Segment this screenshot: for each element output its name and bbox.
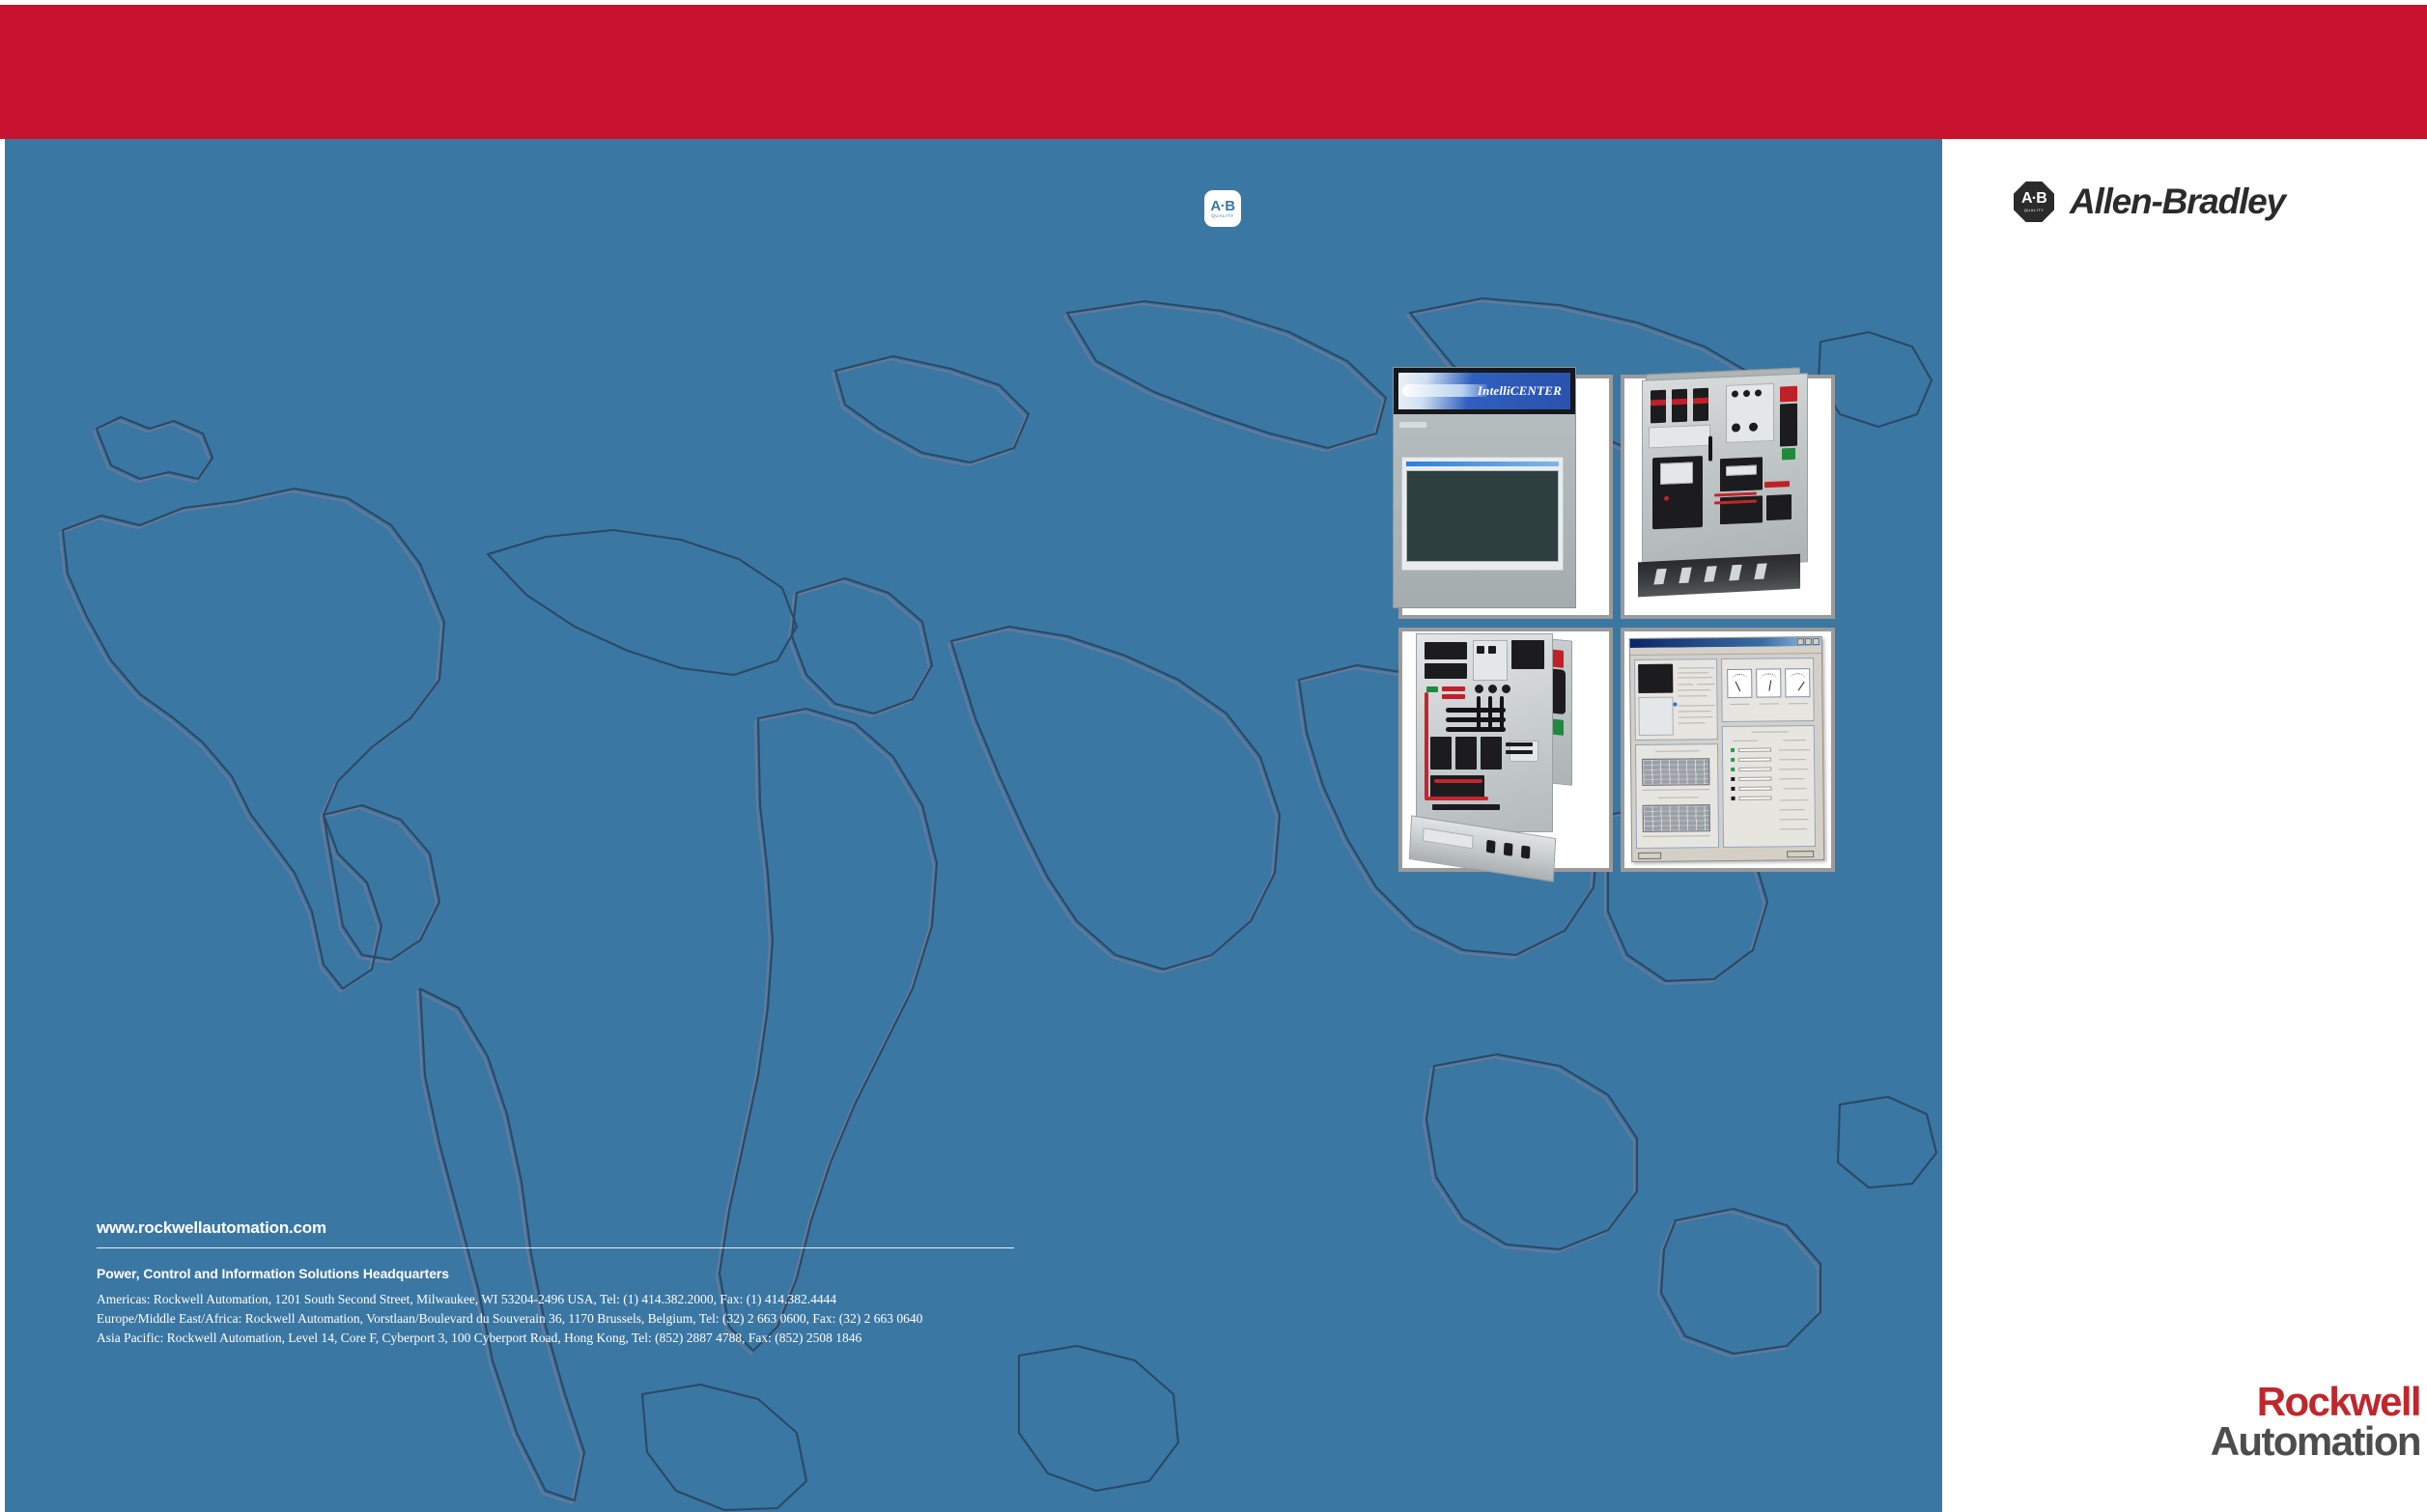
intellicenter-cabinet-graphic: IntelliCENTER [1393, 367, 1576, 608]
ab-mark-subtitle: QUALITY [2024, 209, 2045, 212]
allen-bradley-logo: A·B QUALITY Allen-Bradley [2014, 182, 2285, 222]
intellicenter-banner: IntelliCENTER [1398, 373, 1570, 409]
device-details-group [1634, 658, 1718, 741]
hmi-titlebar [1406, 462, 1559, 466]
footer-contact-block: www.rockwellautomation.com Power, Contro… [97, 1218, 1024, 1348]
product-image-grid: IntelliCENTER [1398, 375, 1843, 880]
ab-quality-badge: A·B QUALITY [1204, 190, 1241, 227]
allen-bradley-mark-icon: A·B QUALITY [2014, 182, 2054, 222]
product-image-intellicenter-cabinet: IntelliCENTER [1398, 375, 1613, 619]
motor-control-unit-graphic [1632, 369, 1821, 610]
software-action-button-right[interactable] [1787, 851, 1814, 857]
software-body [1630, 654, 1823, 862]
rockwell-automation-logo: Rockwell Automation [2113, 1383, 2420, 1462]
ab-badge-subtitle: QUALITY [1211, 214, 1233, 219]
mcu-base-plate [1638, 554, 1800, 598]
intellicenter-banner-text: IntelliCENTER [1478, 383, 1562, 399]
trend-graphs-group [1635, 743, 1719, 849]
website-url[interactable]: www.rockwellautomation.com [97, 1218, 1024, 1238]
ab-badge-initials: A·B [1210, 199, 1234, 213]
electrical-data-group [1721, 658, 1815, 722]
hmi-display [1406, 470, 1559, 562]
address-line-americas: Americas: Rockwell Automation, 1201 Sout… [97, 1290, 1024, 1309]
automation-wordmark: Automation [2113, 1421, 2420, 1462]
io-status-group [1722, 725, 1816, 848]
intellicenter-software-window [1629, 636, 1824, 862]
top-red-band [0, 5, 2427, 139]
address-line-emea: Europe/Middle East/Africa: Rockwell Auto… [97, 1309, 1024, 1329]
rockwell-wordmark: Rockwell [2113, 1383, 2420, 1421]
cabinet-label-strip [1399, 422, 1426, 428]
address-list: Americas: Rockwell Automation, 1201 Sout… [97, 1290, 1024, 1348]
mcu-body [1642, 373, 1808, 570]
cabinet-header: IntelliCENTER [1394, 368, 1575, 414]
bucket-body [1416, 633, 1553, 832]
mcc-bucket-graphic [1416, 633, 1570, 875]
brochure-back-cover: A·B QUALITY IntelliCENTER [0, 0, 2427, 1512]
product-image-intellicenter-software [1621, 628, 1835, 872]
ab-mark-initials: A·B [2021, 191, 2046, 207]
product-image-motor-control-unit [1621, 375, 1835, 619]
address-line-asia-pacific: Asia Pacific: Rockwell Automation, Level… [97, 1329, 1024, 1348]
right-white-column [1942, 139, 2427, 1512]
software-action-button-left[interactable] [1638, 853, 1661, 859]
headquarters-title: Power, Control and Information Solutions… [97, 1266, 1024, 1281]
cabinet-hmi-frame [1401, 457, 1564, 571]
product-image-mcc-bucket [1398, 628, 1613, 872]
allen-bradley-wordmark: Allen-Bradley [2070, 182, 2285, 222]
footer-divider [97, 1247, 1014, 1248]
